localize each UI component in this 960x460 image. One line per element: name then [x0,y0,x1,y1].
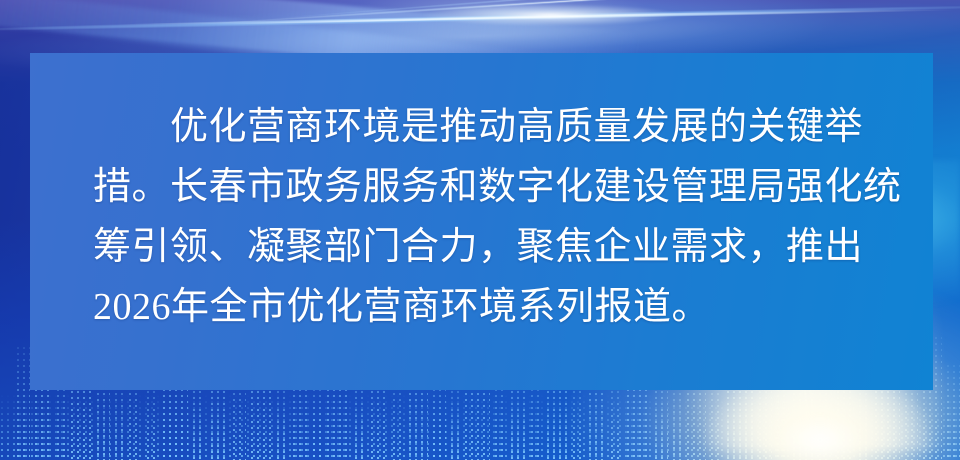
announcement-paragraph: 优化营商环境是推动高质量发展的关键举措。长春市政务服务和数字化建设管理局强化统筹… [93,97,905,337]
poster-canvas: 优化营商环境是推动高质量发展的关键举措。长春市政务服务和数字化建设管理局强化统筹… [0,0,960,460]
content-panel: 优化营商环境是推动高质量发展的关键举措。长春市政务服务和数字化建设管理局强化统筹… [30,53,933,390]
